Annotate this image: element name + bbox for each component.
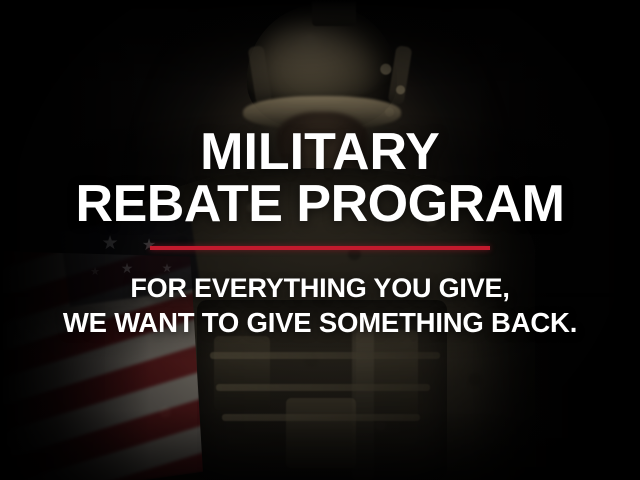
subheadline-line-1: FOR EVERYTHING YOU GIVE,: [130, 273, 509, 305]
accent-divider-rule: [150, 246, 490, 250]
headline-line-1: MILITARY: [200, 128, 440, 178]
military-rebate-banner: MILITARY REBATE PROGRAM FOR EVERYTHING Y…: [0, 0, 640, 480]
banner-content: MILITARY REBATE PROGRAM FOR EVERYTHING Y…: [0, 0, 640, 480]
headline-line-2: REBATE PROGRAM: [76, 180, 565, 230]
subheadline-line-2: WE WANT TO GIVE SOMETHING BACK.: [63, 307, 577, 339]
